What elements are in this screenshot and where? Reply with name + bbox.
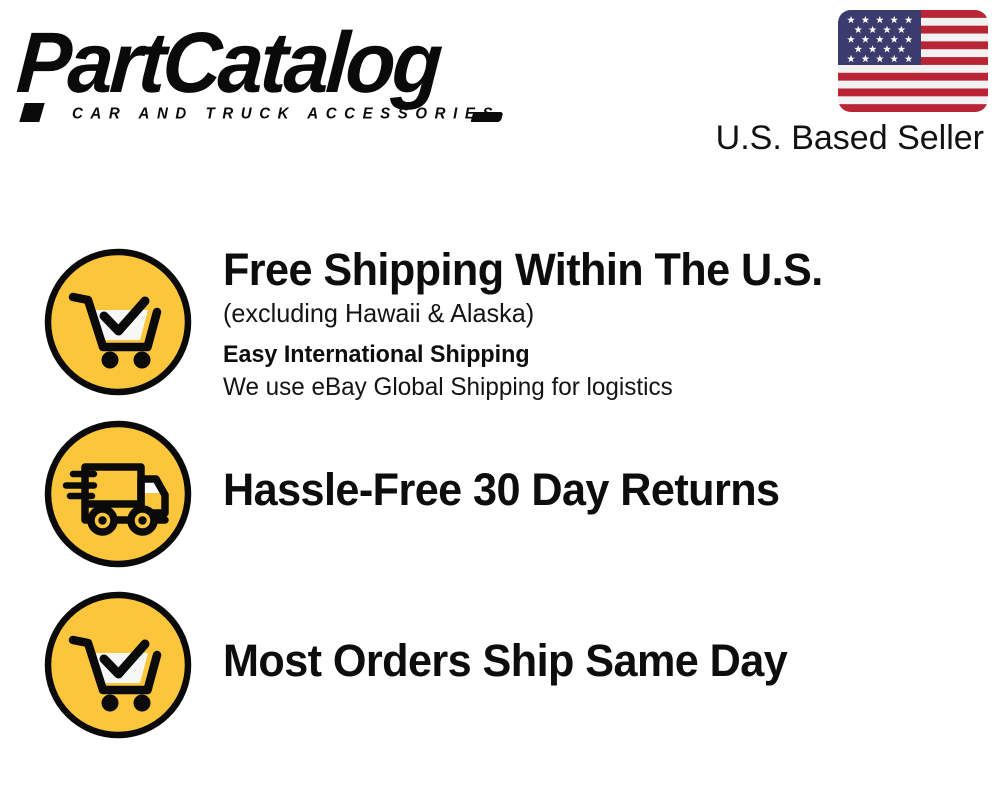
us-flag-icon [838, 10, 988, 112]
feature-title: Free Shipping Within The U.S. [223, 244, 953, 296]
feature-subtitle-strong: Easy International Shipping [223, 338, 960, 371]
feature-subtitle-detail: We use eBay Global Shipping for logistic… [223, 371, 960, 404]
brand-wordmark: PartCatalog [14, 20, 442, 106]
delivery-truck-icon [44, 420, 192, 568]
feature-title: Most Orders Ship Same Day [223, 635, 953, 687]
brand-tagline: CAR AND TRUCK ACCESSORIES [72, 106, 500, 122]
logo-accent-left [19, 103, 44, 122]
shopping-cart-check-icon [44, 248, 192, 396]
feature-title: Hassle-Free 30 Day Returns [223, 464, 953, 516]
feature-row: Free Shipping Within The U.S. (excluding… [0, 248, 1000, 408]
feature-text-block: Hassle-Free 30 Day Returns [223, 464, 983, 516]
shopping-cart-check-icon [44, 591, 192, 739]
feature-text-block: Most Orders Ship Same Day [223, 635, 983, 687]
brand-logo: PartCatalog CAR AND TRUCK ACCESSORIES [20, 20, 500, 120]
feature-text-block: Free Shipping Within The U.S. (excluding… [223, 244, 983, 404]
feature-row: Most Orders Ship Same Day [0, 591, 1000, 741]
feature-subtitle: (excluding Hawaii & Alaska) [223, 296, 960, 330]
feature-row: Hassle-Free 30 Day Returns [0, 420, 1000, 570]
us-based-seller-label: U.S. Based Seller [500, 118, 984, 158]
